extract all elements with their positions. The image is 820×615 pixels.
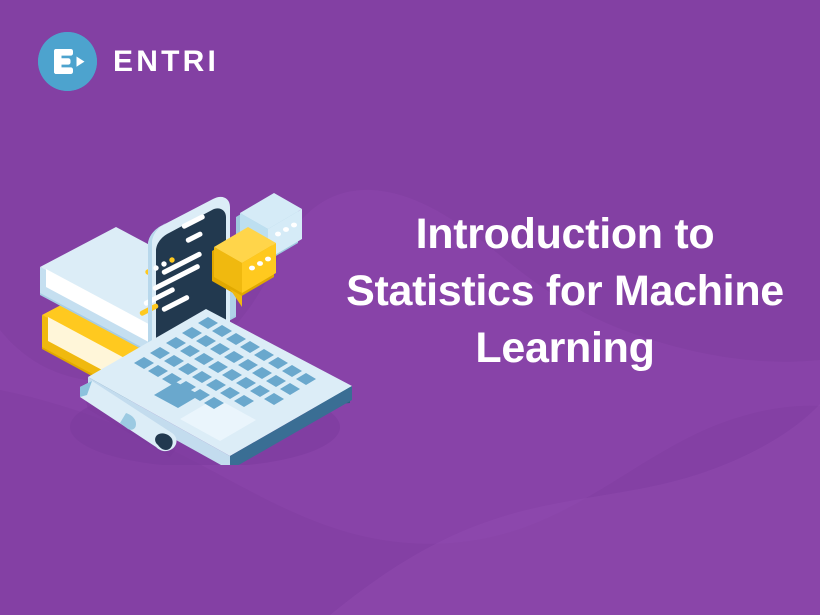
code-dot-2 (153, 265, 158, 270)
logo-glyph (38, 32, 97, 91)
page-title: Introduction to Statistics for Machine L… (320, 206, 810, 376)
code-dot-4 (169, 257, 174, 262)
logo-letter-e (54, 49, 73, 74)
code-dot-3 (161, 261, 166, 266)
page-title-line-1: Introduction to (320, 206, 810, 263)
page-title-line-2: Statistics for Machine (320, 263, 810, 320)
entri-e-circle-icon (38, 32, 97, 91)
course-banner: ENTRI Introduction to Statistics for Mac… (0, 0, 820, 615)
brand-logo[interactable]: ENTRI (38, 32, 219, 91)
brand-name: ENTRI (113, 47, 219, 77)
page-title-line-3: Learning (320, 320, 810, 377)
